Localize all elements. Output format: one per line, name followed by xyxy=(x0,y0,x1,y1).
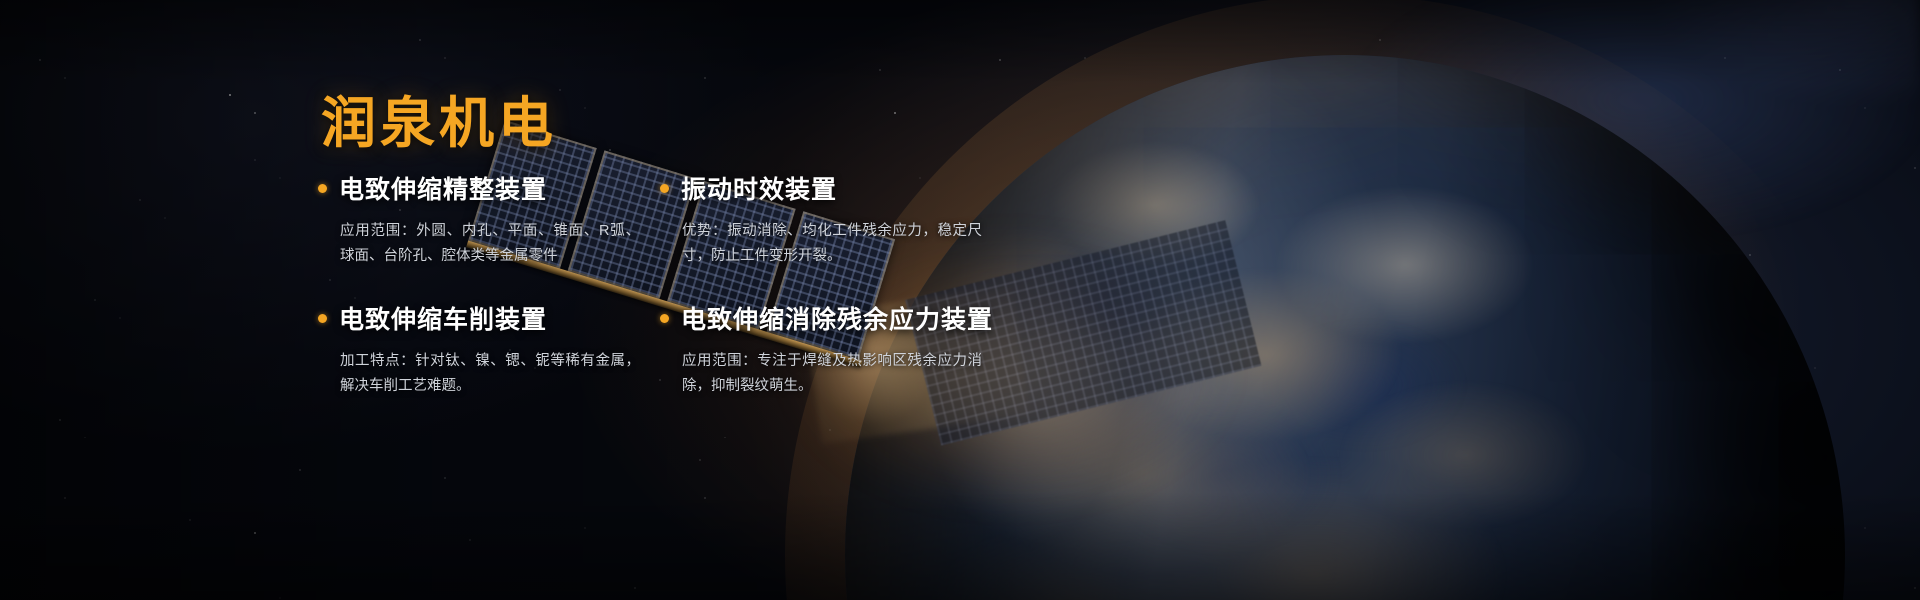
feature-heading-row: 振动时效装置 xyxy=(660,170,990,206)
bullet-dot-icon xyxy=(660,314,669,323)
feature-item-electrostrictive-finishing[interactable]: 电致伸缩精整装置 应用范围：外圆、内孔、平面、锥面、R弧、球面、台阶孔、腔体类等… xyxy=(318,170,648,269)
hero-banner: 润泉机电 电致伸缩精整装置 应用范围：外圆、内孔、平面、锥面、R弧、球面、台阶孔… xyxy=(0,0,1920,600)
bullet-dot-icon xyxy=(318,184,327,193)
feature-heading-row: 电致伸缩车削装置 xyxy=(318,300,648,336)
feature-heading: 电致伸缩车削装置 xyxy=(339,300,547,336)
feature-heading-row: 电致伸缩消除残余应力装置 xyxy=(660,300,990,336)
feature-heading: 电致伸缩消除残余应力装置 xyxy=(681,300,993,336)
feature-description: 加工特点：针对钛、镍、锶、铌等稀有金属，解决车削工艺难题。 xyxy=(340,349,640,399)
feature-description: 优势：振动消除、均化工件残余应力，稳定尺寸，防止工件变形开裂。 xyxy=(682,219,982,269)
feature-heading-row: 电致伸缩精整装置 xyxy=(318,170,648,206)
brand-title: 润泉机电 xyxy=(321,78,557,158)
feature-description: 应用范围：专注于焊缝及热影响区残余应力消除，抑制裂纹萌生。 xyxy=(682,349,982,399)
feature-item-residual-stress-relief[interactable]: 电致伸缩消除残余应力装置 应用范围：专注于焊缝及热影响区残余应力消除，抑制裂纹萌… xyxy=(660,300,990,399)
bullet-dot-icon xyxy=(660,184,669,193)
bullet-dot-icon xyxy=(318,314,327,323)
feature-item-electrostrictive-turning[interactable]: 电致伸缩车削装置 加工特点：针对钛、镍、锶、铌等稀有金属，解决车削工艺难题。 xyxy=(318,300,648,399)
feature-heading: 电致伸缩精整装置 xyxy=(339,170,547,206)
banner-content: 润泉机电 电致伸缩精整装置 应用范围：外圆、内孔、平面、锥面、R弧、球面、台阶孔… xyxy=(0,0,1920,600)
feature-description: 应用范围：外圆、内孔、平面、锥面、R弧、球面、台阶孔、腔体类等金属零件 xyxy=(340,219,640,269)
feature-heading: 振动时效装置 xyxy=(681,170,837,206)
feature-item-vibration-aging[interactable]: 振动时效装置 优势：振动消除、均化工件残余应力，稳定尺寸，防止工件变形开裂。 xyxy=(660,170,990,269)
